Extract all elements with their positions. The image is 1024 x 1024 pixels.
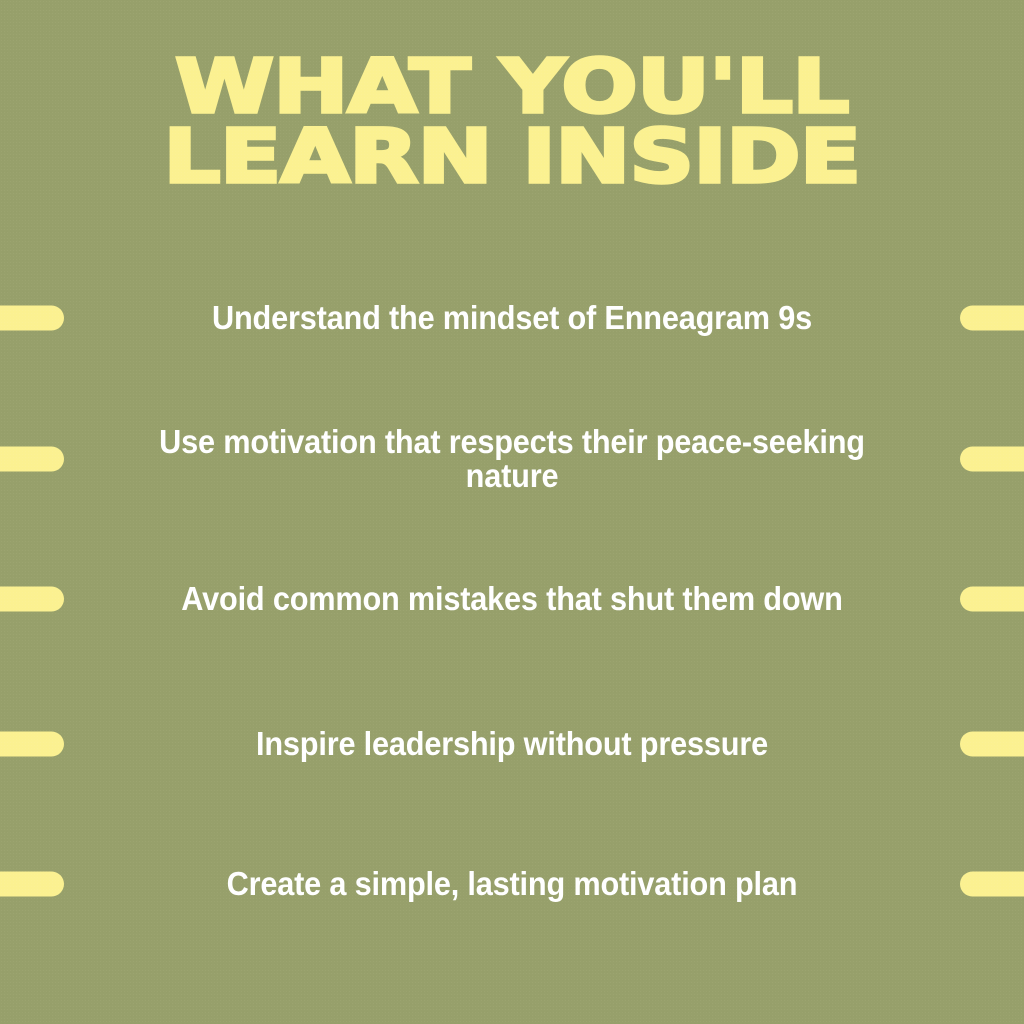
list-item-label: Inspire leadership without pressure	[133, 727, 892, 761]
dash-marker-left-icon	[0, 587, 64, 612]
dash-marker-left-icon	[0, 872, 64, 897]
dash-marker-right-icon	[960, 447, 1024, 472]
poster-canvas: WHAT YOU'LL LEARN INSIDE Understand the …	[0, 0, 1024, 1024]
dash-marker-right-icon	[960, 587, 1024, 612]
page-title: WHAT YOU'LL LEARN INSIDE	[0, 56, 1024, 188]
list-item-label: Create a simple, lasting motivation plan	[133, 867, 892, 901]
list-item-label: Avoid common mistakes that shut them dow…	[133, 582, 892, 616]
dash-marker-right-icon	[960, 732, 1024, 757]
page-title-line-1: WHAT YOU'LL	[0, 56, 1024, 118]
dash-marker-left-icon	[0, 306, 64, 331]
list-item: Create a simple, lasting motivation plan	[0, 818, 1024, 950]
page-title-line-2: LEARN INSIDE	[0, 126, 1024, 188]
list-item: Inspire leadership without pressure	[0, 678, 1024, 810]
dash-marker-left-icon	[0, 732, 64, 757]
list-item: Understand the mindset of Enneagram 9s	[0, 252, 1024, 384]
dash-marker-left-icon	[0, 447, 64, 472]
dash-marker-right-icon	[960, 872, 1024, 897]
list-item-label: Understand the mindset of Enneagram 9s	[133, 301, 892, 335]
learning-points-list: Understand the mindset of Enneagram 9s U…	[0, 252, 1024, 912]
list-item: Avoid common mistakes that shut them dow…	[0, 533, 1024, 665]
list-item-label: Use motivation that respects their peace…	[133, 425, 892, 494]
dash-marker-right-icon	[960, 306, 1024, 331]
list-item: Use motivation that respects their peace…	[0, 393, 1024, 525]
